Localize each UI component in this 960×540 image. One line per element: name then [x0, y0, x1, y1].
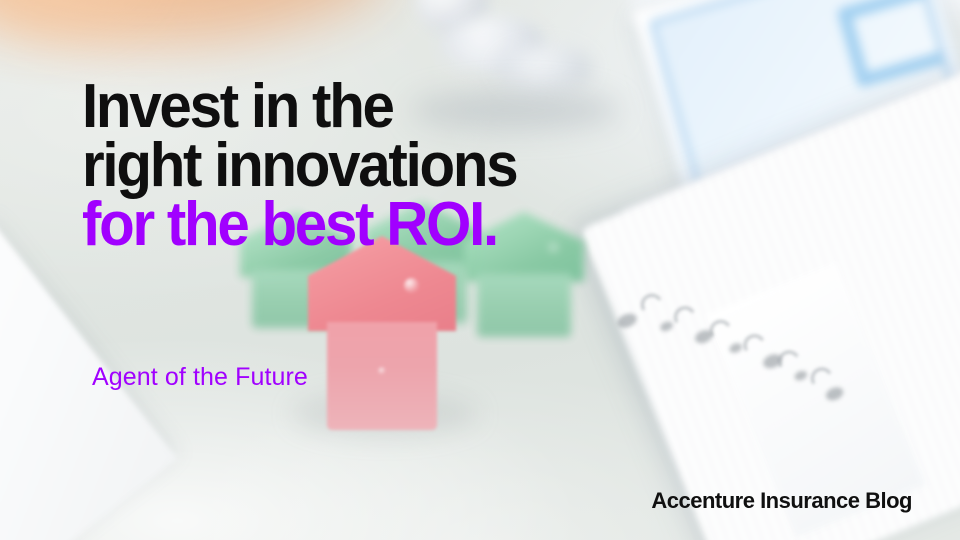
page-title: Invest in the right innovations for the …	[82, 78, 516, 255]
subtitle: Agent of the Future	[92, 363, 308, 392]
headline-line-2: right innovations	[82, 137, 516, 196]
headline-line-3: for the best ROI.	[82, 196, 516, 255]
text-layer: Invest in the right innovations for the …	[0, 0, 960, 540]
brand-label: Accenture Insurance Blog	[651, 488, 912, 514]
marketing-banner: Invest in the right innovations for the …	[0, 0, 960, 540]
headline-line-1: Invest in the	[82, 78, 516, 137]
